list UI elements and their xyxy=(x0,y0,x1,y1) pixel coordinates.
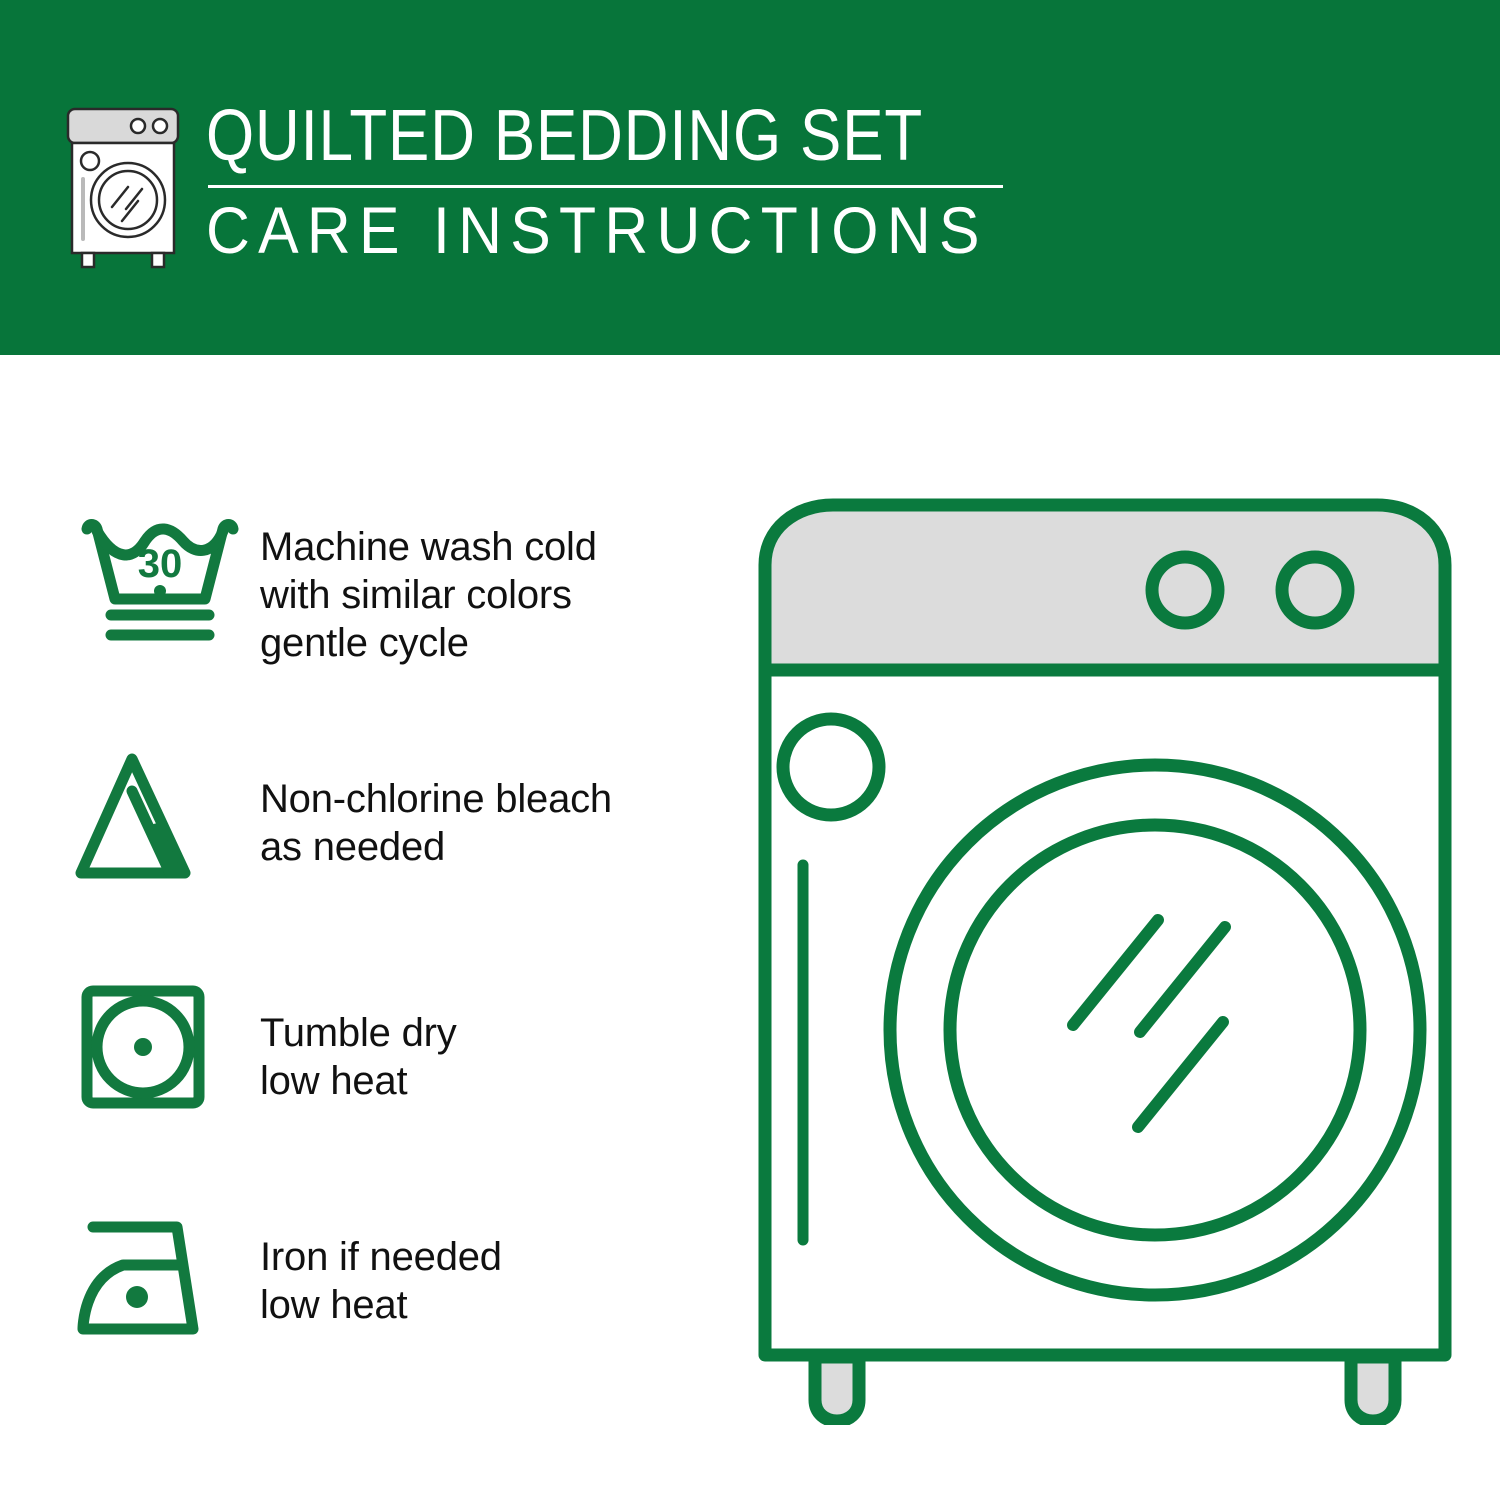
machine-leg xyxy=(815,1357,859,1421)
care-text-tumble-dry: Tumble dry low heat xyxy=(260,965,720,1105)
page-subtitle: CARE INSTRUCTIONS xyxy=(206,194,988,266)
tumble-dry-low-heat-icon xyxy=(60,965,260,1135)
machine-door-inner xyxy=(950,825,1360,1235)
care-line: low heat xyxy=(260,1057,720,1105)
care-line: with similar colors xyxy=(260,571,720,619)
care-line: Non-chlorine bleach xyxy=(260,775,720,823)
front-load-washing-machine-illustration xyxy=(745,495,1465,1425)
machine-knob xyxy=(1282,557,1348,623)
care-row-tumble-dry: Tumble dry low heat xyxy=(60,965,720,1195)
care-line: as needed xyxy=(260,823,720,871)
care-text-iron: Iron if needed low heat xyxy=(260,1195,720,1329)
header-title-group: QUILTED BEDDING SET CARE INSTRUCTIONS xyxy=(206,95,1056,266)
machine-knob xyxy=(1152,557,1218,623)
wash-tub-30-gentle-icon: 30 xyxy=(60,505,260,675)
header-banner: QUILTED BEDDING SET CARE INSTRUCTIONS xyxy=(0,0,1500,355)
care-text-machine-wash: Machine wash cold with similar colors ge… xyxy=(260,505,720,667)
care-line: low heat xyxy=(260,1281,720,1329)
care-line: Iron if needed xyxy=(260,1233,720,1281)
care-text-bleach: Non-chlorine bleach as needed xyxy=(260,735,720,871)
title-divider xyxy=(208,185,1003,188)
page-title: QUILTED BEDDING SET xyxy=(206,97,937,175)
care-line: Tumble dry xyxy=(260,1009,720,1057)
washing-machine-icon xyxy=(60,103,190,273)
care-line: gentle cycle xyxy=(260,619,720,667)
non-chlorine-bleach-triangle-icon xyxy=(60,735,260,905)
detergent-dispenser xyxy=(783,719,879,815)
care-row-bleach: Non-chlorine bleach as needed xyxy=(60,735,720,965)
machine-leg xyxy=(1351,1357,1395,1421)
care-row-iron: Iron if needed low heat xyxy=(60,1195,720,1425)
care-instruction-list: 30 Machine wash cold with similar colors… xyxy=(60,505,720,1425)
care-instructions-page: QUILTED BEDDING SET CARE INSTRUCTIONS xyxy=(0,0,1500,1500)
wash-temperature-label: 30 xyxy=(138,542,183,586)
care-line: Machine wash cold xyxy=(260,523,720,571)
header-content: QUILTED BEDDING SET CARE INSTRUCTIONS xyxy=(60,95,1040,275)
care-row-machine-wash: 30 Machine wash cold with similar colors… xyxy=(60,505,720,735)
iron-low-heat-icon xyxy=(60,1195,260,1365)
